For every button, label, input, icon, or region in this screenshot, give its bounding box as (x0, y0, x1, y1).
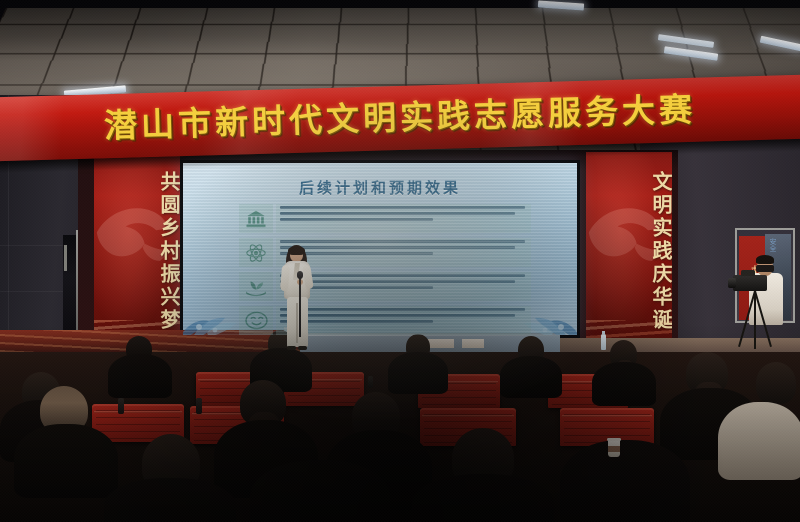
seat-armrest (196, 398, 202, 414)
slide-row: 成为深入宣传习近平新时代中国特色社会主义思想的重要载体，加强和践行社会主义核心价… (239, 203, 531, 234)
coffee-cup (608, 440, 620, 457)
left-banner-text: 共圆乡村振兴梦 (94, 158, 180, 344)
sprout-icon (239, 272, 273, 301)
table-paper (462, 339, 484, 348)
microphone-icon (297, 271, 303, 279)
camera-lens-icon (728, 278, 736, 288)
presenter-shoe (287, 346, 296, 350)
audience-head (756, 362, 796, 404)
audience-person (250, 460, 390, 522)
audience-person (412, 474, 554, 522)
atom-icon (239, 238, 273, 267)
presenter (277, 247, 317, 350)
slide-row-body: 成为深入宣传习近平新时代中国特色社会主义思想的重要载体，加强和践行社会主义核心价… (276, 204, 531, 233)
projection-screen: 后续计划和预期效果 (180, 160, 580, 338)
face-mask-icon (756, 265, 774, 272)
audience-person (388, 352, 448, 394)
cameraman (735, 255, 795, 365)
audience-person (500, 356, 562, 398)
smiley-icon (239, 306, 273, 335)
right-banner-text: 文明实践庆华诞 (586, 158, 672, 344)
seat-armrest (118, 398, 124, 414)
tripod (743, 291, 767, 351)
presenter-bangs (288, 246, 305, 255)
left-side-banner: 共圆乡村振兴梦 (94, 152, 180, 350)
water-bottle (601, 334, 606, 350)
cameraman-hair (756, 255, 774, 264)
table-paper (426, 339, 454, 348)
audience-person (560, 440, 690, 522)
audience-person (14, 424, 118, 498)
video-camera-icon (733, 275, 767, 291)
seat-armrest (368, 376, 373, 388)
audience-person (104, 478, 236, 522)
audience-person (718, 402, 800, 480)
slide-surface: 后续计划和预期效果 (183, 163, 577, 335)
presenter-trousers (287, 297, 308, 347)
right-side-banner: 文明实践庆华诞 (586, 152, 672, 350)
audience-person (108, 354, 172, 398)
presenter-shoe (298, 346, 307, 350)
audience-person (592, 362, 656, 406)
microphone-stand (299, 275, 301, 337)
slide-title: 后续计划和预期效果 (183, 177, 577, 198)
event-photo-scene: 救灾 安全 共圆乡村振兴梦 文明实践庆华诞 后续计划和预期效果 (0, 0, 800, 522)
bank-icon (239, 204, 273, 233)
